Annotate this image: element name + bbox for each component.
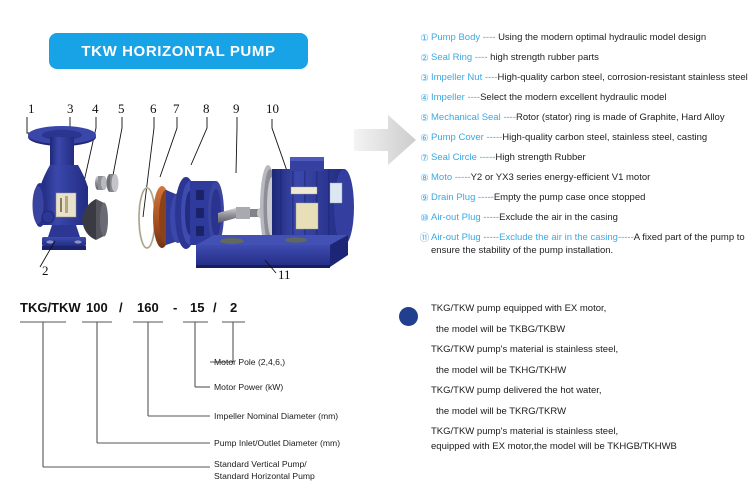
legend-text: Pump Cover -----High-quality carbon stee… bbox=[431, 132, 756, 144]
legend-number: ⑥ bbox=[418, 132, 431, 145]
legend-number: ① bbox=[418, 32, 431, 45]
legend-desc: High-quality carbon steel, corrosion-res… bbox=[498, 72, 748, 83]
nomen-label-standard-2: Standard Horizontal Pump bbox=[214, 471, 315, 481]
nomen-label-standard-1: Standard Vertical Pump/ bbox=[214, 459, 307, 469]
part-shaft bbox=[218, 207, 263, 223]
legend-text: Moto -----Y2 or YX3 series energy-effici… bbox=[431, 172, 756, 184]
legend-text: Pump Body ---- Using the modern optimal … bbox=[431, 32, 756, 44]
code-segment-slash2: / bbox=[213, 300, 217, 315]
code-segment-series: TKG/TKW bbox=[20, 300, 81, 315]
part-baseplate bbox=[196, 235, 348, 268]
legend-separator: ---- bbox=[482, 72, 497, 83]
callout-7: 7 bbox=[173, 101, 180, 116]
legend-desc: Rotor (stator) ring is made of Graphite,… bbox=[516, 112, 725, 123]
note-line: TKG/TKW pump's material is stainless ste… bbox=[399, 426, 756, 437]
legend-number: ④ bbox=[418, 92, 431, 105]
legend-number: ③ bbox=[418, 72, 431, 85]
legend-part-name: Air-out Plug bbox=[431, 232, 481, 243]
code-segment-pole: 2 bbox=[230, 300, 237, 315]
note-line: TKG/TKW pump equipped with EX motor, bbox=[399, 303, 756, 314]
legend-desc: Select the modern excellent hydraulic mo… bbox=[480, 92, 666, 103]
note-line: TKG/TKW pump delivered the hot water, bbox=[399, 385, 756, 396]
legend-text: Mechanical Seal ----Rotor (stator) ring … bbox=[431, 112, 756, 124]
legend-item: ⑩ Air-out Plug -----Exclude the air in t… bbox=[418, 212, 756, 225]
callout-11: 11 bbox=[278, 267, 291, 282]
legend-separator: ----- bbox=[484, 132, 502, 143]
legend-number: ⑩ bbox=[418, 212, 431, 225]
legend-desc: High-quality carbon steel, stainless ste… bbox=[502, 132, 707, 143]
legend-item: ⑪ Air-out Plug -----Exclude the air in t… bbox=[418, 232, 756, 257]
legend-part-name: Air-out Plug bbox=[431, 212, 481, 223]
callout-10: 10 bbox=[266, 101, 279, 116]
legend-text: Air-out Plug -----Exclude the air in the… bbox=[431, 232, 756, 257]
legend-desc: Y2 or YX3 series energy-efficient V1 mot… bbox=[471, 172, 651, 183]
legend-desc: Using the modern optimal hydraulic model… bbox=[498, 32, 706, 43]
callout-4: 4 bbox=[92, 101, 99, 116]
exploded-pump-diagram: 1 3 4 5 6 7 8 9 10 bbox=[0, 95, 400, 290]
code-segment-inlet: 100 bbox=[86, 300, 108, 315]
legend-text: Air-out Plug -----Exclude the air in the… bbox=[431, 212, 756, 224]
callout-3: 3 bbox=[67, 101, 74, 116]
nomen-label-motor-pole: Motor Pole (2,4,6,) bbox=[214, 357, 285, 367]
legend-separator: ----- bbox=[452, 172, 470, 183]
callout-9: 9 bbox=[233, 101, 240, 116]
legend-part-name: Drain Plug bbox=[431, 192, 475, 203]
legend-text: Impeller ----Select the modern excellent… bbox=[431, 92, 756, 104]
note-line: equipped with EX motor,the model will be… bbox=[399, 441, 756, 452]
legend-item: ⑨ Drain Plug -----Empty the pump case on… bbox=[418, 192, 756, 205]
flow-arrow-icon bbox=[352, 112, 418, 168]
code-segment-power: 15 bbox=[190, 300, 204, 315]
legend-number: ⑨ bbox=[418, 192, 431, 205]
legend-separator: ----- bbox=[477, 152, 495, 163]
legend-separator: ----- bbox=[475, 192, 493, 203]
note-line: the model will be TKRG/TKRW bbox=[399, 406, 756, 417]
legend-item: ⑧ Moto -----Y2 or YX3 series energy-effi… bbox=[418, 172, 756, 185]
legend-desc-blue: Exclude the air in the casing bbox=[499, 232, 618, 243]
title-banner: TKW HORIZONTAL PUMP bbox=[49, 33, 308, 69]
legend-text: Impeller Nut ----High-quality carbon ste… bbox=[431, 72, 756, 84]
legend-number: ② bbox=[418, 52, 431, 65]
note-line: the model will be TKHG/TKHW bbox=[399, 365, 756, 376]
legend-desc: Empty the pump case once stopped bbox=[494, 192, 646, 203]
legend-separator-2: ----- bbox=[618, 232, 634, 243]
nomen-label-motor-power: Motor Power (kW) bbox=[214, 382, 283, 392]
part-small-fittings bbox=[95, 174, 119, 192]
note-line: TKG/TKW pump's material is stainless ste… bbox=[399, 344, 756, 355]
legend-separator: ----- bbox=[481, 212, 499, 223]
code-segment-slash1: / bbox=[119, 300, 123, 315]
code-segment-impeller: 160 bbox=[137, 300, 159, 315]
legend-part-name: Impeller Nut bbox=[431, 72, 482, 83]
legend-number: ⑪ bbox=[418, 232, 431, 245]
page-title: TKW HORIZONTAL PUMP bbox=[81, 43, 275, 60]
legend-desc: A fixed part of the pump to bbox=[634, 232, 745, 243]
legend-separator: ----- bbox=[481, 232, 499, 243]
model-nomenclature-diagram: TKG/TKW 100 / 160 - 15 / 2 bbox=[0, 295, 395, 500]
legend-text: Drain Plug -----Empty the pump case once… bbox=[431, 192, 756, 204]
note-line: the model will be TKBG/TKBW bbox=[399, 324, 756, 335]
legend-part-name: Pump Body bbox=[431, 32, 480, 43]
callout-5: 5 bbox=[118, 101, 125, 116]
part-seal-circle bbox=[139, 188, 155, 248]
legend-part-name: Moto bbox=[431, 172, 452, 183]
callout-2: 2 bbox=[42, 263, 49, 278]
legend-separator: ---- bbox=[465, 92, 480, 103]
callout-6: 6 bbox=[150, 101, 157, 116]
legend-desc: Exclude the air in the casing bbox=[499, 212, 618, 223]
legend-number: ⑤ bbox=[418, 112, 431, 125]
legend-desc: High strength Rubber bbox=[495, 152, 585, 163]
legend-desc-line2: ensure the stability of the pump install… bbox=[431, 245, 613, 256]
nomen-label-impeller-dia: Impeller Nominal Diameter (mm) bbox=[214, 411, 338, 421]
model-variant-notes: TKG/TKW pump equipped with EX motor, the… bbox=[399, 303, 756, 462]
pump-datasheet-page: TKW HORIZONTAL PUMP bbox=[0, 0, 756, 500]
nomen-label-inlet-dia: Pump Inlet/Outlet Diameter (mm) bbox=[214, 438, 340, 448]
bullet-dot-icon bbox=[399, 307, 418, 326]
code-segment-dash: - bbox=[173, 300, 177, 315]
legend-part-name: Mechanical Seal bbox=[431, 112, 501, 123]
legend-separator: ---- bbox=[480, 32, 498, 43]
legend-part-name: Seal Ring bbox=[431, 52, 472, 63]
legend-item: ③ Impeller Nut ----High-quality carbon s… bbox=[418, 72, 756, 85]
legend-text: Seal Ring ---- high strength rubber part… bbox=[431, 52, 756, 64]
legend-item: ⑦ Seal Circle -----High strength Rubber bbox=[418, 152, 756, 165]
legend-part-name: Seal Circle bbox=[431, 152, 477, 163]
parts-legend: ① Pump Body ---- Using the modern optima… bbox=[418, 32, 756, 265]
legend-item: ④ Impeller ----Select the modern excelle… bbox=[418, 92, 756, 105]
legend-part-name: Impeller bbox=[431, 92, 465, 103]
legend-separator: ---- bbox=[472, 52, 490, 63]
callout-8: 8 bbox=[203, 101, 210, 116]
legend-separator: ---- bbox=[501, 112, 516, 123]
legend-item: ⑤ Mechanical Seal ----Rotor (stator) rin… bbox=[418, 112, 756, 125]
legend-number: ⑧ bbox=[418, 172, 431, 185]
legend-number: ⑦ bbox=[418, 152, 431, 165]
legend-item: ⑥ Pump Cover -----High-quality carbon st… bbox=[418, 132, 756, 145]
legend-item: ① Pump Body ---- Using the modern optima… bbox=[418, 32, 756, 45]
legend-desc: high strength rubber parts bbox=[490, 52, 599, 63]
callout-1: 1 bbox=[28, 101, 35, 116]
legend-text: Seal Circle -----High strength Rubber bbox=[431, 152, 756, 164]
legend-item: ② Seal Ring ---- high strength rubber pa… bbox=[418, 52, 756, 65]
legend-part-name: Pump Cover bbox=[431, 132, 484, 143]
